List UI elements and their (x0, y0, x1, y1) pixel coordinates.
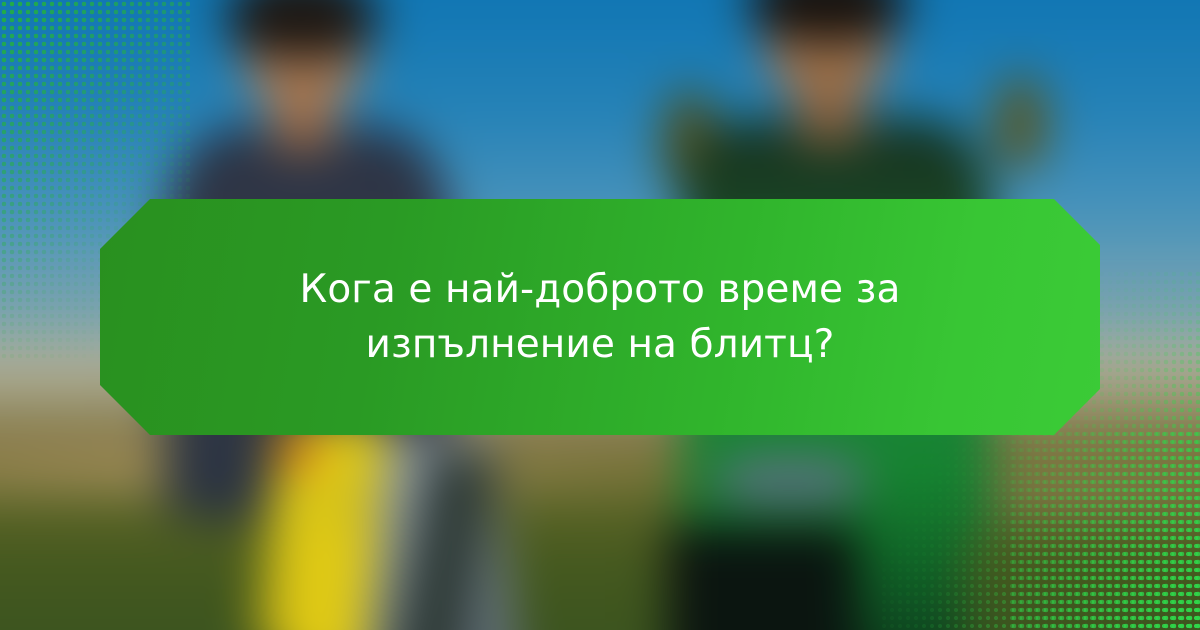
page-title: Кога е най-доброто време за изпълнение н… (220, 262, 980, 373)
person-left-hair (227, 0, 376, 59)
headline-banner: Кога е най-доброто време за изпълнение н… (100, 199, 1100, 435)
social-card: Кога е най-доброто време за изпълнение н… (0, 0, 1200, 630)
person-right-collar (715, 458, 864, 503)
person-left-red-accent (281, 435, 314, 465)
distant-tree-2-icon (993, 74, 1047, 172)
person-left-gear-yellow-2 (280, 522, 377, 630)
person-right-shadow (668, 526, 858, 630)
